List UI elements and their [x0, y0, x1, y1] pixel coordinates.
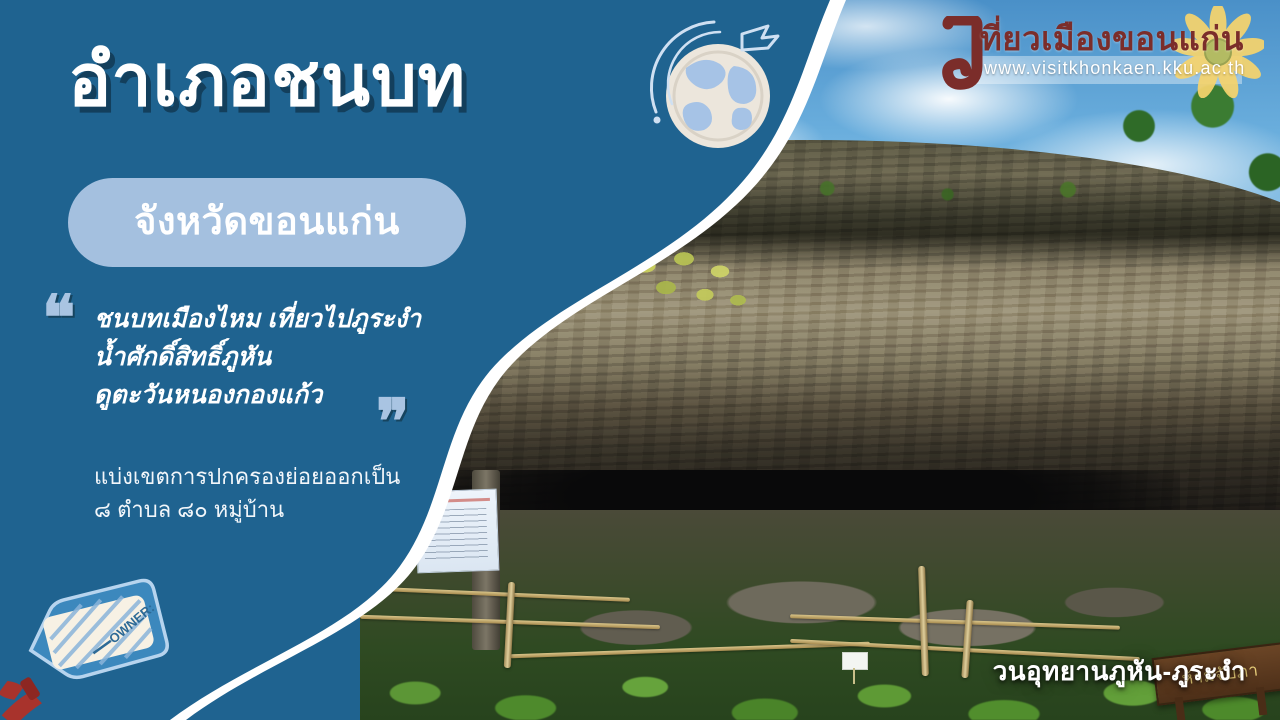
administrative-note-line: แบ่งเขตการปกครองย่อยออกเป็น: [94, 460, 494, 493]
quote-line: ดูตะวันหนองกองแก้ว: [94, 376, 494, 414]
administrative-note: แบ่งเขตการปกครองย่อยออกเป็น ๘ ตำบล ๘๐ หม…: [94, 460, 494, 526]
quote-open-mark: ❝: [42, 288, 75, 350]
site-logo[interactable]: ที่ยวเมืองขอนแก่น www.visitkhonkaen.kku.…: [936, 6, 1266, 98]
quote-text: ชนบทเมืองไหม เที่ยวไปภูระงำ น้ำศักดิ์สิท…: [94, 300, 494, 414]
province-badge-label: จังหวัดขอนแก่น: [134, 201, 400, 243]
globe-airplane-icon: [630, 8, 810, 168]
photo-caption: วนอุทยานภูหัน-ภูระงำ: [993, 651, 1246, 692]
quote-line: น้ำศักดิ์สิทธิ์ภูหัน: [94, 338, 494, 376]
administrative-note-line: ๘ ตำบล ๘๐ หมู่บ้าน: [94, 493, 494, 526]
small-trail-marker-sign: [842, 652, 868, 670]
quote-line: ชนบทเมืองไหม เที่ยวไปภูระงำ: [94, 300, 494, 338]
page-title: อำเภอชนบท: [68, 42, 466, 121]
province-badge: จังหวัดขอนแก่น: [68, 178, 466, 267]
site-url[interactable]: www.visitkhonkaen.kku.ac.th: [984, 58, 1246, 79]
tourism-poster: ห้ามจับภา วนอุทยานภูหัน-ภูระงำ อำเภอชนบท…: [0, 0, 1280, 720]
luggage-tag-icon: OWNER:: [0, 572, 208, 720]
leaf-cluster: [615, 248, 765, 338]
